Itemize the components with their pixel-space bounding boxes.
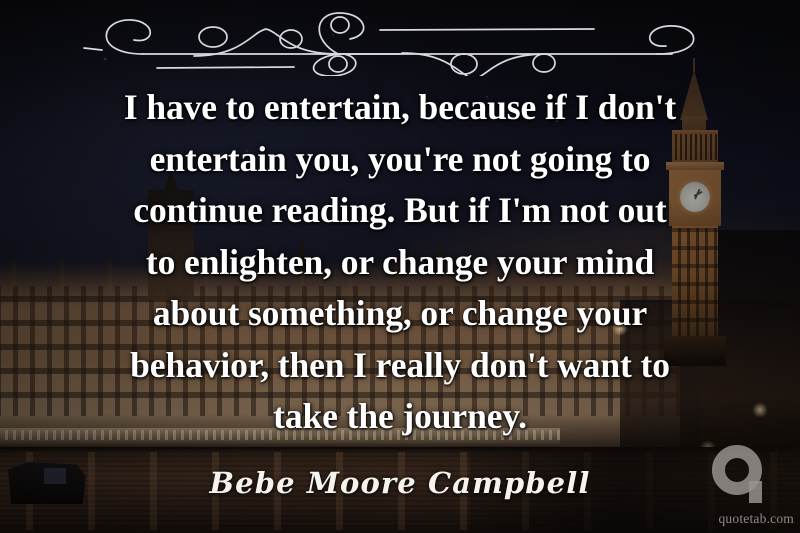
logo-descender	[749, 481, 762, 503]
watermark: quotetab.com	[678, 443, 794, 529]
decorative-flourish-divider-icon	[82, 6, 718, 76]
quote-overlay: I have to entertain, because if I don't …	[0, 0, 800, 533]
watermark-site-label: quotetab.com	[678, 511, 794, 527]
quotetab-logo-icon	[712, 445, 764, 503]
quote-text: I have to entertain, because if I don't …	[36, 82, 764, 443]
quote-image-canvas: I have to entertain, because if I don't …	[0, 0, 800, 533]
